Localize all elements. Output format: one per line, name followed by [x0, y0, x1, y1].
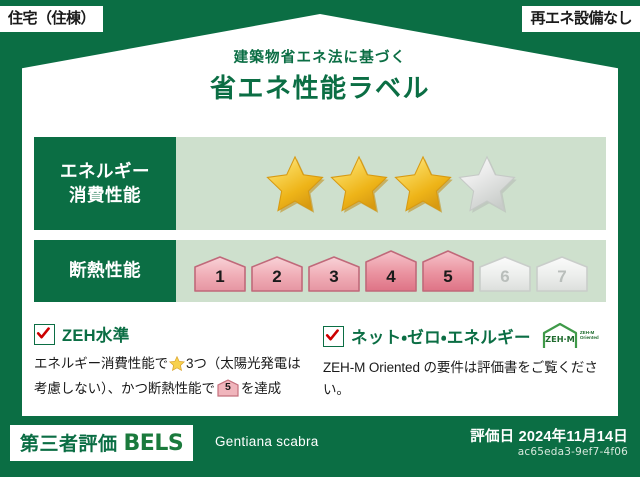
grade-number: 1	[193, 267, 247, 287]
grade-number: 6	[478, 267, 532, 287]
energy-performance-label: 住宅（住棟） 再エネ設備なし 建築物省エネ法に基づく 省エネ性能ラベル エネルギ…	[0, 0, 640, 477]
inline-grade-number: 5	[217, 379, 239, 396]
energy-rating-body	[176, 137, 606, 230]
check-nze-header: ネット・ゼロ・エネルギー ZEH·M ZEH-M Oriented	[323, 322, 598, 350]
check-zeh-header: ZEH水準	[34, 322, 309, 346]
grade-badge: 4	[364, 249, 418, 293]
building-type-tag: 住宅（住棟）	[0, 6, 103, 32]
grade-scale: 1234567	[193, 249, 589, 293]
performance-rows: エネルギー 消費性能 断熱性能 1234567	[34, 137, 606, 312]
insulation-performance-label: 断熱性能	[34, 240, 176, 302]
grade-number: 2	[250, 267, 304, 287]
grade-badge: 7	[535, 255, 589, 293]
check-nze-title: ネット・ゼロ・エネルギー	[351, 324, 531, 348]
title-block: 建築物省エネ法に基づく 省エネ性能ラベル	[0, 50, 640, 105]
grade-badge: 1	[193, 255, 247, 293]
energy-label-line1: エネルギー	[60, 160, 150, 184]
inline-grade-badge: 5	[217, 379, 239, 397]
grade-badge: 2	[250, 255, 304, 293]
check-zeh-title: ZEH水準	[62, 322, 130, 346]
zeh-m-oriented-logo: ZEH·M ZEH-M Oriented	[541, 322, 599, 350]
grade-badge: 3	[307, 255, 361, 293]
inline-star-icon	[169, 359, 185, 374]
grade-number: 5	[421, 267, 475, 287]
star-filled-icon	[392, 154, 454, 214]
check-net-zero-energy: ネット・ゼロ・エネルギー ZEH·M ZEH-M Oriented ZEH-M …	[323, 322, 612, 401]
check-nze-description: ZEH-M Oriented の要件は評価書をご覧ください。	[323, 357, 598, 401]
check-zeh-description: エネルギー消費性能で3つ（太陽光発電は考慮しない）、かつ断熱性能で5を達成	[34, 353, 309, 400]
star-rating	[264, 154, 518, 214]
bels-jp-label: 第三者評価	[20, 429, 118, 456]
renewable-energy-tag: 再エネ設備なし	[522, 6, 640, 32]
grade-badge: 6	[478, 255, 532, 293]
grade-number: 7	[535, 267, 589, 287]
label-subtitle: 建築物省エネ法に基づく	[0, 50, 640, 67]
energy-performance-label: エネルギー 消費性能	[34, 137, 176, 230]
star-empty-icon	[456, 154, 518, 214]
bels-badge: 第三者評価 BELS	[10, 425, 193, 461]
insulation-label-line1: 断熱性能	[69, 259, 141, 283]
checkbox-checked-icon	[323, 326, 344, 347]
grade-number: 3	[307, 267, 361, 287]
svg-text:ZEH·M: ZEH·M	[545, 334, 575, 344]
evaluation-id: ac65eda3-9ef7-4f06	[518, 446, 628, 458]
evaluation-date: 評価日 2024年11月14日	[470, 425, 628, 446]
insulation-rating-body: 1234567	[176, 240, 606, 302]
label-footer: 第三者評価 BELS Gentiana scabra 評価日 2024年11月1…	[0, 416, 640, 477]
page-title: 省エネ性能ラベル	[0, 73, 640, 104]
grade-number: 4	[364, 267, 418, 287]
grade-badge: 5	[421, 249, 475, 293]
energy-performance-row: エネルギー 消費性能	[34, 137, 606, 230]
bels-en-label: BELS	[124, 431, 184, 456]
star-filled-icon	[264, 154, 326, 214]
checkbox-checked-icon	[34, 324, 55, 345]
certification-checks: ZEH水準 エネルギー消費性能で3つ（太陽光発電は考慮しない）、かつ断熱性能で5…	[34, 322, 612, 401]
energy-label-line2: 消費性能	[69, 184, 141, 208]
insulation-performance-row: 断熱性能 1234567	[34, 240, 606, 302]
zeh-desc-part1: エネルギー消費性能で	[34, 356, 168, 371]
owner-name: Gentiana scabra	[215, 434, 319, 449]
zehm-sub-line2: Oriented	[580, 336, 599, 341]
star-filled-icon	[328, 154, 390, 214]
check-zeh-standard: ZEH水準 エネルギー消費性能で3つ（太陽光発電は考慮しない）、かつ断熱性能で5…	[34, 322, 323, 401]
zeh-desc-part3: を達成	[241, 381, 281, 396]
